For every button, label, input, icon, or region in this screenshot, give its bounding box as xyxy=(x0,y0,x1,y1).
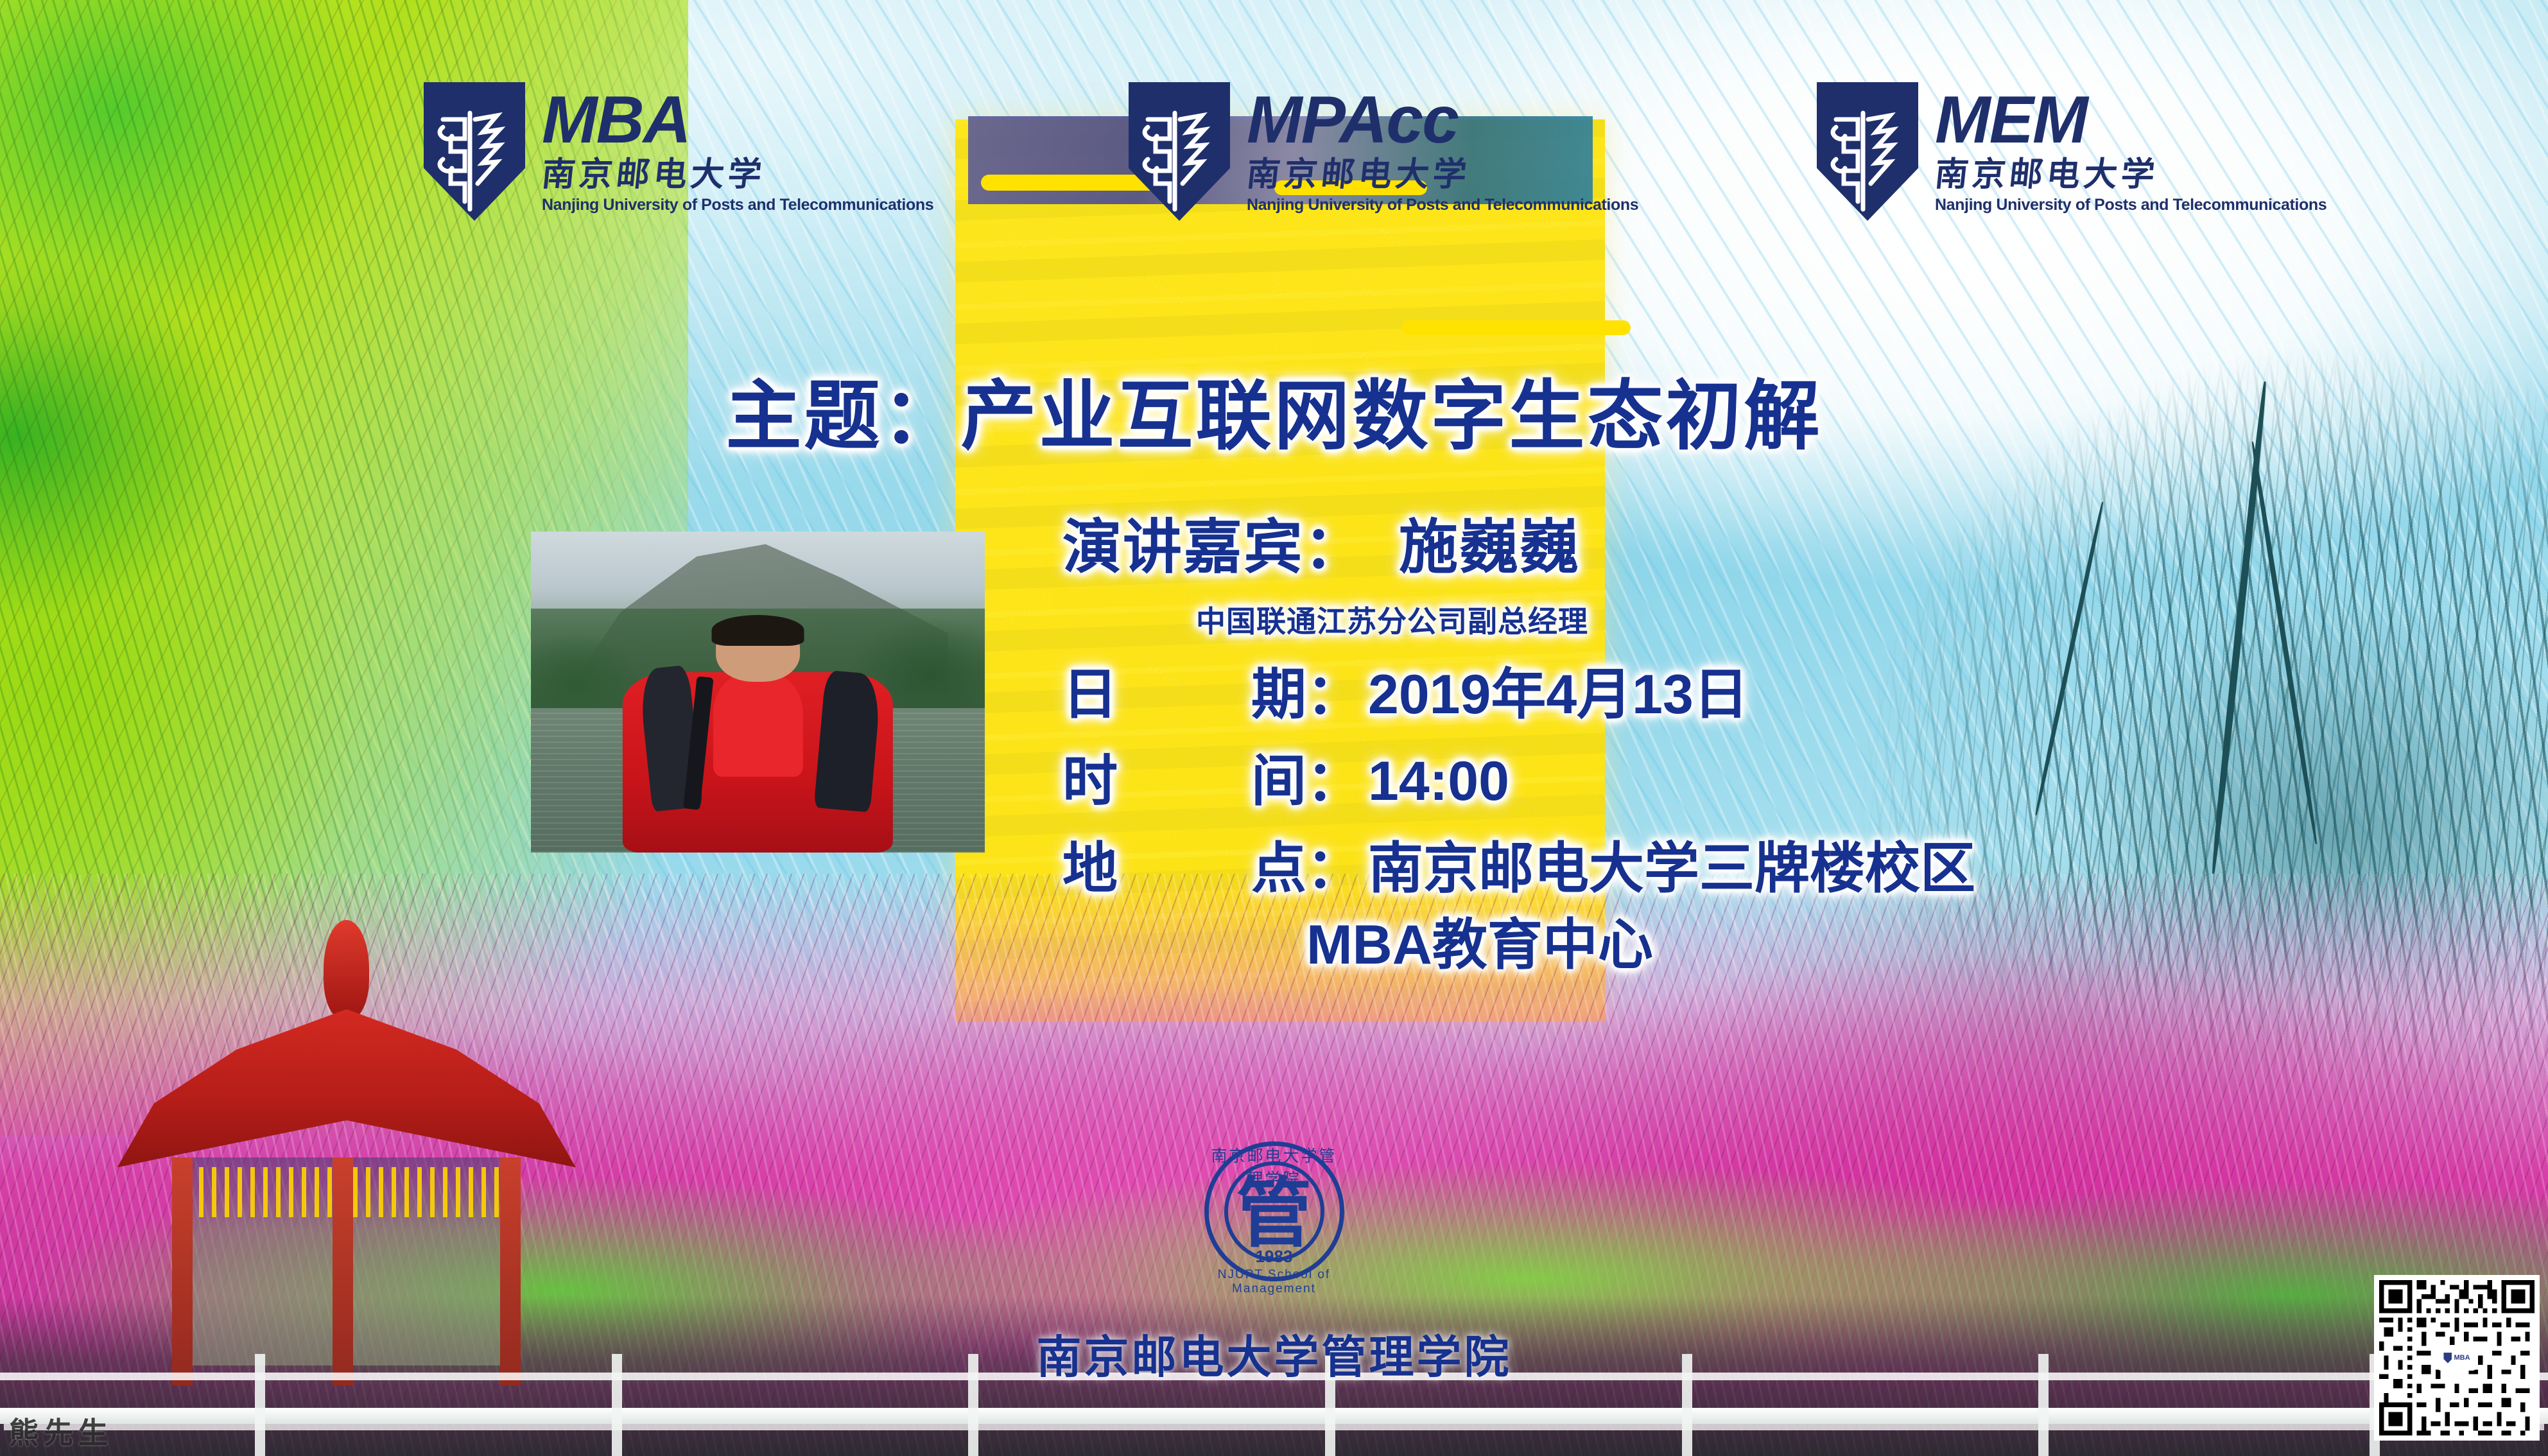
mem-logo-text: MEM 南京邮电大学 Nanjing University of Posts a… xyxy=(1935,89,2327,214)
mem-logo: MEM 南京邮电大学 Nanjing University of Posts a… xyxy=(1817,82,2327,221)
time-value: 14:00 xyxy=(1368,749,1509,814)
date-colon: ： xyxy=(1306,663,1362,727)
date-label-char-2: 期 xyxy=(1251,663,1306,727)
mem-en-name: Nanjing University of Posts and Telecomm… xyxy=(1935,196,2327,214)
detail-row-time: 时 间 ： 14:00 xyxy=(1062,749,2411,814)
speaker-name: 施巍巍 xyxy=(1399,513,1580,582)
qr-center-label: MBA xyxy=(2454,1354,2470,1362)
school-seal-icon: 南京邮电大学管理学院 管 1983 NJUPT School of Manage… xyxy=(1204,1141,1344,1281)
speaker-role: 中国联通江苏分公司副总经理 xyxy=(1196,598,2411,641)
qr-center-logo: MBA xyxy=(2436,1345,2477,1371)
seal-glyph: 管 xyxy=(1209,1175,1340,1251)
date-value: 2019年4月13日 xyxy=(1368,663,1749,727)
mpacc-abbr: MPAcc xyxy=(1247,89,1638,152)
page-title: 主题：产业互联网数字生态初解 xyxy=(0,354,2548,464)
detail-row-venue: 地 点 ： 南京邮电大学三牌楼校区 xyxy=(1062,836,2411,901)
mem-abbr: MEM xyxy=(1935,89,2327,152)
venue-label: 地 点 xyxy=(1062,836,1306,901)
event-poster: MBA 南京邮电大学 Nanjing University of Posts a… xyxy=(0,0,2548,1456)
mba-en-name: Nanjing University of Posts and Telecomm… xyxy=(542,196,933,214)
school-seal-wrap: 南京邮电大学管理学院 管 1983 NJUPT School of Manage… xyxy=(0,1141,2548,1285)
photo-person xyxy=(617,615,898,853)
mpacc-cn-name: 南京邮电大学 xyxy=(1245,156,1641,195)
photo-dark-vest-right xyxy=(814,670,882,811)
venue-label-char-1: 地 xyxy=(1062,836,1118,901)
qr-shield-icon xyxy=(2443,1353,2452,1364)
detail-row-date: 日 期 ： 2019年4月13日 xyxy=(1062,663,2411,727)
footer-organization: 南京邮电大学管理学院 xyxy=(0,1321,2548,1386)
fence-rail xyxy=(0,1408,2548,1424)
mba-abbr: MBA xyxy=(542,89,933,152)
university-shield-icon xyxy=(1129,82,1230,221)
mba-cn-name: 南京邮电大学 xyxy=(540,156,936,195)
date-label-char-1: 日 xyxy=(1062,663,1118,727)
event-details: 演讲嘉宾：施巍巍 中国联通江苏分公司副总经理 日 期 ： 2019年4月13日 … xyxy=(1062,510,2411,978)
seal-year: 1983 xyxy=(1209,1247,1340,1267)
photo-red-shirt xyxy=(713,672,802,777)
seal-en-arc-text: NJUPT School of Management xyxy=(1193,1268,1355,1296)
time-label-char-2: 间 xyxy=(1251,749,1306,814)
building-yellow-bar xyxy=(1401,320,1631,335)
detail-row-venue-line2: MBA教育中心 xyxy=(1306,913,2411,978)
mba-logo-text: MBA 南京邮电大学 Nanjing University of Posts a… xyxy=(542,89,933,214)
speaker-row: 演讲嘉宾：施巍巍 xyxy=(1062,510,2411,584)
time-colon: ： xyxy=(1306,749,1362,814)
mpacc-en-name: Nanjing University of Posts and Telecomm… xyxy=(1247,196,1638,214)
speaker-label: 演讲嘉宾： xyxy=(1062,513,1364,582)
venue-colon: ： xyxy=(1306,836,1362,901)
mem-cn-name: 南京邮电大学 xyxy=(1933,156,2329,195)
pavilion-finial xyxy=(324,920,369,1019)
mpacc-logo: MPAcc 南京邮电大学 Nanjing University of Posts… xyxy=(1129,82,1638,221)
speaker-photo xyxy=(531,532,985,853)
artist-watermark: 熊先生 xyxy=(9,1410,113,1452)
time-label: 时 间 xyxy=(1062,749,1306,814)
program-logo-row: MBA 南京邮电大学 Nanjing University of Posts a… xyxy=(0,82,2548,223)
mpacc-logo-text: MPAcc 南京邮电大学 Nanjing University of Posts… xyxy=(1247,89,1638,214)
photo-hair xyxy=(711,615,804,646)
venue-value-line2: MBA教育中心 xyxy=(1306,913,1653,978)
venue-value: 南京邮电大学三牌楼校区 xyxy=(1368,836,1975,901)
date-label: 日 期 xyxy=(1062,663,1306,727)
university-shield-icon xyxy=(1817,82,1918,221)
qr-code[interactable]: MBA xyxy=(2374,1275,2540,1441)
university-shield-icon xyxy=(424,82,525,221)
mba-logo: MBA 南京邮电大学 Nanjing University of Posts a… xyxy=(424,82,933,221)
venue-label-char-2: 点 xyxy=(1251,836,1306,901)
time-label-char-1: 时 xyxy=(1062,749,1118,814)
